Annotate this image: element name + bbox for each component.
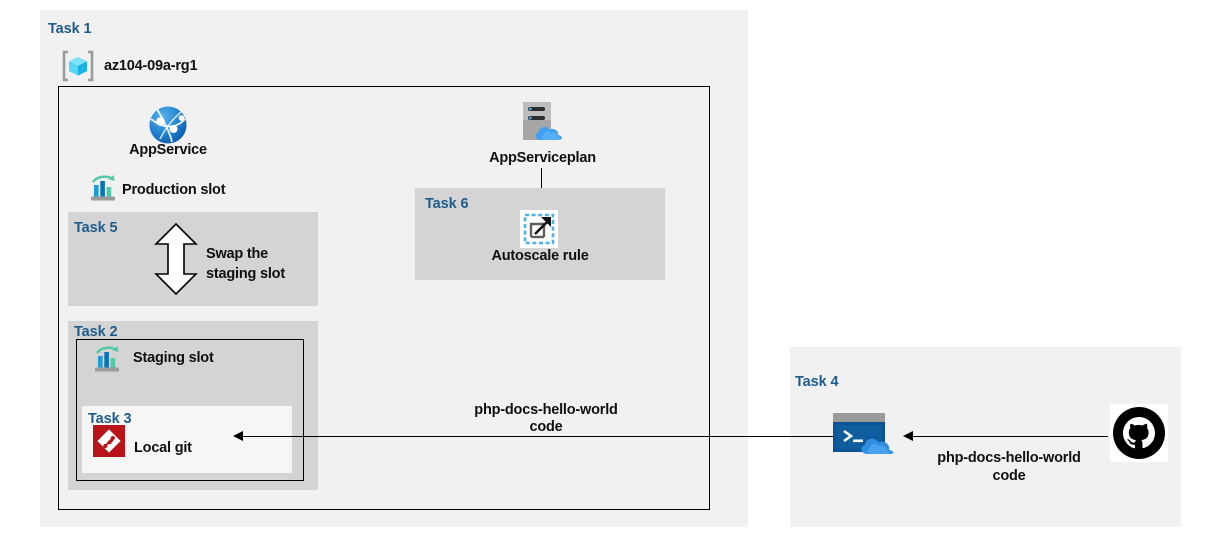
task4-label: Task 4 xyxy=(795,374,838,390)
appservice-name: AppService xyxy=(98,142,238,158)
task5-label: Task 5 xyxy=(74,220,117,236)
task2-label: Task 2 xyxy=(74,324,117,340)
shell-to-localgit-line xyxy=(243,436,833,437)
production-slot-name: Production slot xyxy=(122,182,225,198)
task5-action-line2: staging slot xyxy=(206,265,285,284)
app-service-icon xyxy=(148,105,188,145)
task1-code-label-line2: code xyxy=(446,419,646,435)
shell-to-localgit-arrowhead xyxy=(233,431,243,441)
task1-label: Task 1 xyxy=(48,21,91,37)
swap-double-arrow-icon xyxy=(147,222,205,296)
app-service-plan-icon xyxy=(515,100,571,146)
github-to-shell-arrowhead xyxy=(903,431,913,441)
cloud-shell-icon xyxy=(833,410,899,458)
resource-group-icon xyxy=(62,50,94,82)
staging-slot-icon xyxy=(92,345,122,375)
autoscale-name: Autoscale rule xyxy=(460,248,620,264)
staging-slot-name: Staging slot xyxy=(133,350,214,366)
production-slot-icon xyxy=(88,174,118,204)
resource-group-name: az104-09a-rg1 xyxy=(104,58,197,74)
task5-action-line1: Swap the xyxy=(206,245,268,264)
git-icon xyxy=(93,425,125,457)
task4-code-label-line2: code xyxy=(908,468,1110,484)
local-git-name: Local git xyxy=(134,440,192,456)
autoscale-icon xyxy=(520,210,558,248)
appserviceplan-name: AppServiceplan xyxy=(460,150,625,166)
task4-code-label-line1: php-docs-hello-world xyxy=(908,450,1110,466)
task6-label: Task 6 xyxy=(425,196,468,212)
diagram-canvas: Task 1 az104-09a-rg1 xyxy=(0,0,1218,545)
task1-code-label-line1: php-docs-hello-world xyxy=(446,402,646,418)
github-to-shell-line xyxy=(912,436,1108,437)
github-icon xyxy=(1110,404,1168,462)
